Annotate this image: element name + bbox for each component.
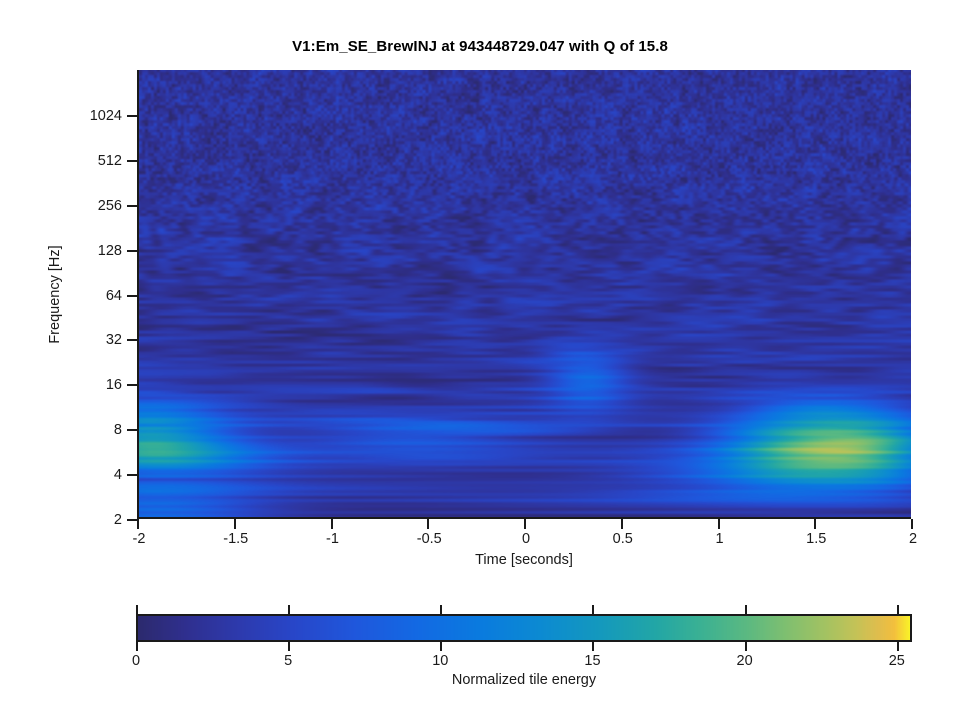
colorbar-tick-label-5: 5 — [284, 652, 292, 670]
spectrogram-heatmap — [137, 70, 911, 519]
y-tick-16: 16 — [127, 384, 137, 386]
colorbar-gradient — [136, 614, 912, 642]
y-tick-32: 32 — [127, 339, 137, 341]
colorbar-label: Normalized tile energy — [136, 672, 912, 688]
y-tick-label-512: 512 — [98, 152, 122, 170]
colorbar-tick-label-25: 25 — [889, 652, 905, 670]
y-tick-label-128: 128 — [98, 242, 122, 260]
y-tick-label-16: 16 — [106, 376, 122, 394]
colorbar-tick-10-bottom — [440, 642, 442, 651]
y-tick-256: 256 — [127, 205, 137, 207]
x-tick-label-0: 0 — [522, 530, 530, 548]
x-tick-label--0.5: -0.5 — [417, 530, 442, 548]
spectrogram-axes: 2481632641282565121024 -2-1.5-1-0.500.51… — [137, 70, 911, 519]
y-tick-4: 4 — [127, 474, 137, 476]
y-axis-label-text: Frequency [Hz] — [47, 70, 63, 519]
y-tick-label-4: 4 — [114, 466, 122, 484]
colorbar-tick-label-20: 20 — [737, 652, 753, 670]
y-tick-2: 2 — [127, 519, 137, 521]
y-axis-label: Frequency [Hz] — [47, 0, 65, 70]
x-tick-label-0.5: 0.5 — [613, 530, 633, 548]
qscan-figure: V1:Em_SE_BrewINJ at 943448729.047 with Q… — [0, 0, 960, 720]
y-tick-64: 64 — [127, 295, 137, 297]
y-tick-label-32: 32 — [106, 331, 122, 349]
x-tick-0: 0 — [524, 519, 526, 529]
x-tick-label-1: 1 — [715, 530, 723, 548]
x-tick--2: -2 — [137, 519, 139, 529]
colorbar: 0510152025 — [136, 614, 912, 642]
x-tick-2: 2 — [911, 519, 913, 529]
y-tick-label-1024: 1024 — [90, 107, 122, 125]
x-tick-label--1: -1 — [326, 530, 339, 548]
colorbar-tick-15-bottom — [592, 642, 594, 651]
colorbar-tick-25-bottom — [897, 642, 899, 651]
colorbar-tick-label-0: 0 — [132, 652, 140, 670]
y-tick-1024: 1024 — [127, 115, 137, 117]
colorbar-tick-5-bottom — [288, 642, 290, 651]
x-tick-label--1.5: -1.5 — [223, 530, 248, 548]
x-axis-label: Time [seconds] — [137, 552, 911, 568]
page-title: V1:Em_SE_BrewINJ at 943448729.047 with Q… — [0, 38, 960, 55]
colorbar-tick-20-bottom — [745, 642, 747, 651]
y-tick-label-256: 256 — [98, 197, 122, 215]
colorbar-tick-5-top — [288, 605, 290, 614]
colorbar-tick-0-top — [136, 605, 138, 614]
x-tick--0.5: -0.5 — [427, 519, 429, 529]
colorbar-tick-20-top — [745, 605, 747, 614]
x-tick-0.5: 0.5 — [621, 519, 623, 529]
x-tick--1.5: -1.5 — [234, 519, 236, 529]
colorbar-tick-label-15: 15 — [584, 652, 600, 670]
y-tick-label-8: 8 — [114, 421, 122, 439]
x-tick-label--2: -2 — [133, 530, 146, 548]
x-tick-1: 1 — [718, 519, 720, 529]
colorbar-tick-10-top — [440, 605, 442, 614]
x-tick--1: -1 — [331, 519, 333, 529]
y-tick-label-2: 2 — [114, 511, 122, 529]
colorbar-tick-25-top — [897, 605, 899, 614]
x-tick-label-1.5: 1.5 — [806, 530, 826, 548]
y-tick-512: 512 — [127, 160, 137, 162]
colorbar-tick-15-top — [592, 605, 594, 614]
colorbar-tick-label-10: 10 — [432, 652, 448, 670]
x-tick-label-2: 2 — [909, 530, 917, 548]
y-tick-8: 8 — [127, 429, 137, 431]
colorbar-tick-0-bottom — [136, 642, 138, 651]
y-tick-128: 128 — [127, 250, 137, 252]
x-tick-1.5: 1.5 — [814, 519, 816, 529]
y-tick-label-64: 64 — [106, 287, 122, 305]
